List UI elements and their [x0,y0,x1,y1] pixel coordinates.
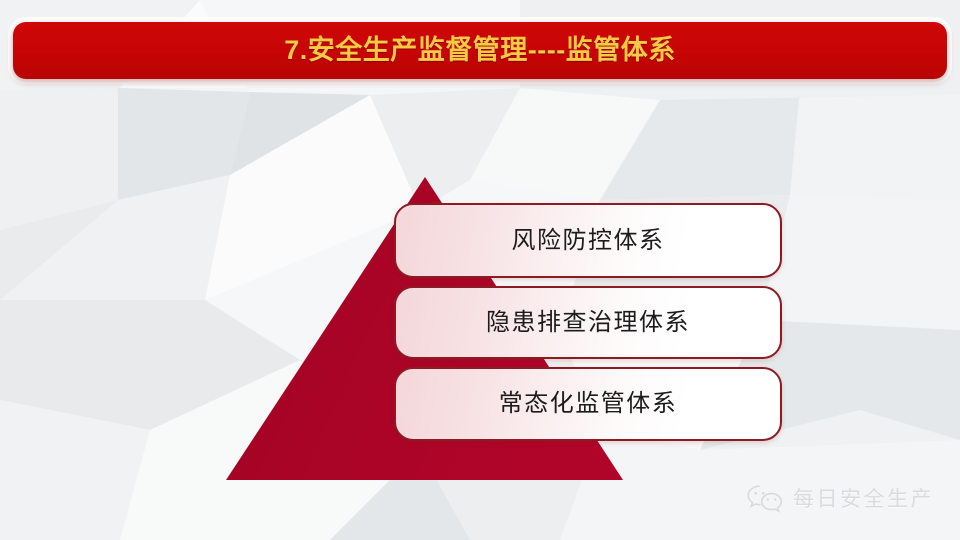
pyramid-layer-box-1[interactable]: 风险防控体系 [394,203,782,278]
pyramid-layer-box-3[interactable]: 常态化监管体系 [394,367,782,441]
slide-canvas: 7.安全生产监督管理----监管体系 风险防控体系 隐患排查治理体系 常态化监管… [0,0,960,540]
wechat-icon [746,484,784,514]
wechat-account-name: 每日安全生产 [793,489,934,510]
pyramid-layer-label-1: 风险防控体系 [512,229,665,253]
slide-title-bar: 7.安全生产监督管理----监管体系 [13,22,947,79]
pyramid-layer-box-2[interactable]: 隐患排查治理体系 [394,286,782,359]
page-title: 7.安全生产监督管理----监管体系 [284,37,675,64]
pyramid-layer-label-2: 隐患排查治理体系 [486,311,690,335]
pyramid-layer-label-3: 常态化监管体系 [499,392,678,416]
wechat-watermark: 每日安全生产 [746,484,934,514]
